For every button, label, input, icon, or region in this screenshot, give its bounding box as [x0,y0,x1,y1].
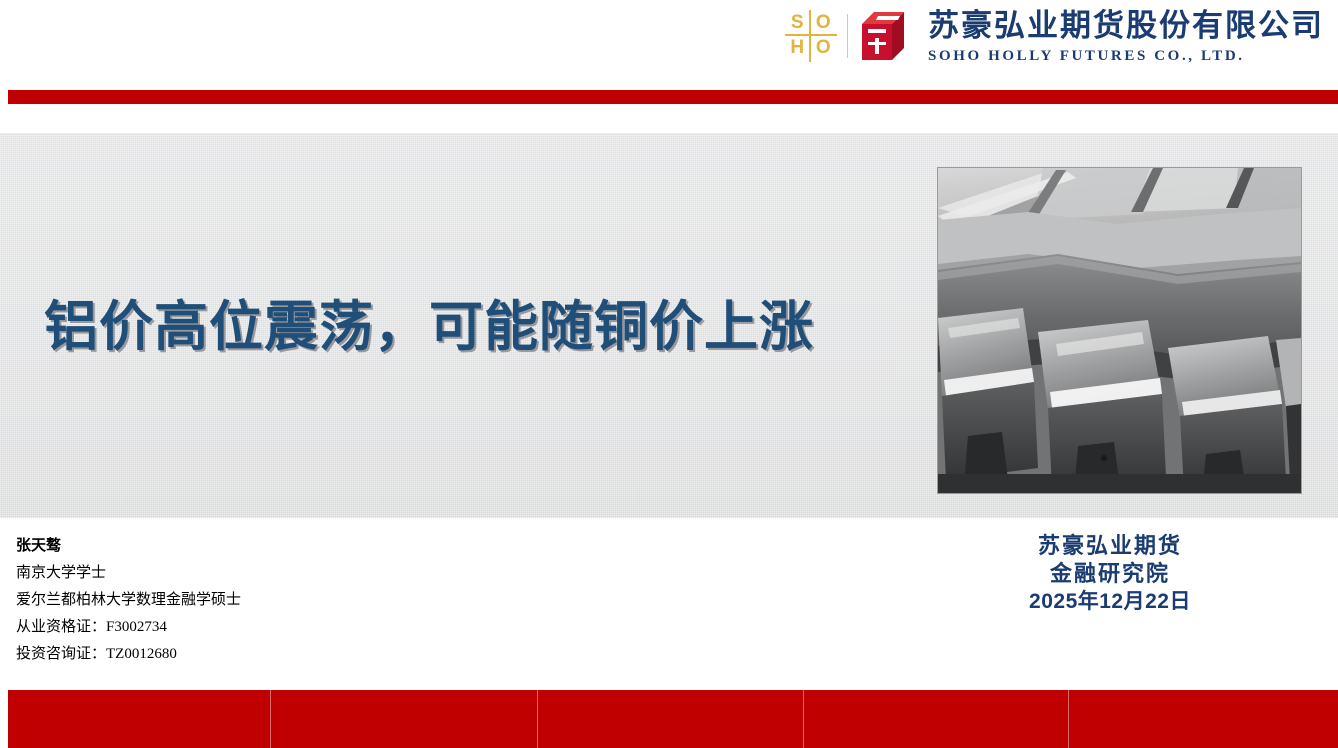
company-logo-block: S O H O 苏豪弘业期货股份有限公司 SOHO H [785,8,1324,65]
page-title: 铝价高位震荡，可能随铜价上涨 [44,282,814,361]
author-name: 张天骜 [16,533,241,560]
presentation-cover-slide: S O H O 苏豪弘业期货股份有限公司 SOHO H [0,0,1338,748]
footer-divider-1 [270,690,271,748]
soho-letter-s1: S [785,11,809,35]
author-credential-4: 投资咨询证：TZ0012680 [16,641,241,668]
header-red-rule [8,90,1338,104]
soho-letter-o2: O [811,36,835,60]
footer-left-notch [0,735,8,748]
aluminum-ingots-photo [937,167,1302,494]
soho-letter-h: H [785,36,809,60]
footer-divider-2 [537,690,538,748]
red-cube-icon [858,8,914,64]
organization-block: 苏豪弘业期货 金融研究院 2025年12月22日 [960,532,1260,616]
soho-monogram-icon: S O H O [785,10,837,62]
author-credential-3: 从业资格证：F3002734 [16,614,241,641]
presentation-date: 2025年12月22日 [960,588,1260,616]
org-company-name: 苏豪弘业期货 [960,532,1260,560]
org-department-name: 金融研究院 [960,560,1260,588]
company-name-en: SOHO HOLLY FUTURES CO., LTD. [928,47,1324,65]
author-credential-1: 南京大学学士 [16,560,241,587]
logo-divider [847,14,848,58]
author-info-block: 张天骜 南京大学学士 爱尔兰都柏林大学数理金融学硕士 从业资格证：F300273… [16,533,241,668]
footer-red-band [8,690,1338,748]
company-name-block: 苏豪弘业期货股份有限公司 SOHO HOLLY FUTURES CO., LTD… [928,8,1324,65]
author-credential-2: 爱尔兰都柏林大学数理金融学硕士 [16,587,241,614]
slide-header: S O H O 苏豪弘业期货股份有限公司 SOHO H [0,0,1338,80]
footer-divider-3 [803,690,804,748]
soho-letter-o1: O [811,11,835,35]
footer-divider-4 [1068,690,1069,748]
company-name-cn: 苏豪弘业期货股份有限公司 [928,8,1324,44]
